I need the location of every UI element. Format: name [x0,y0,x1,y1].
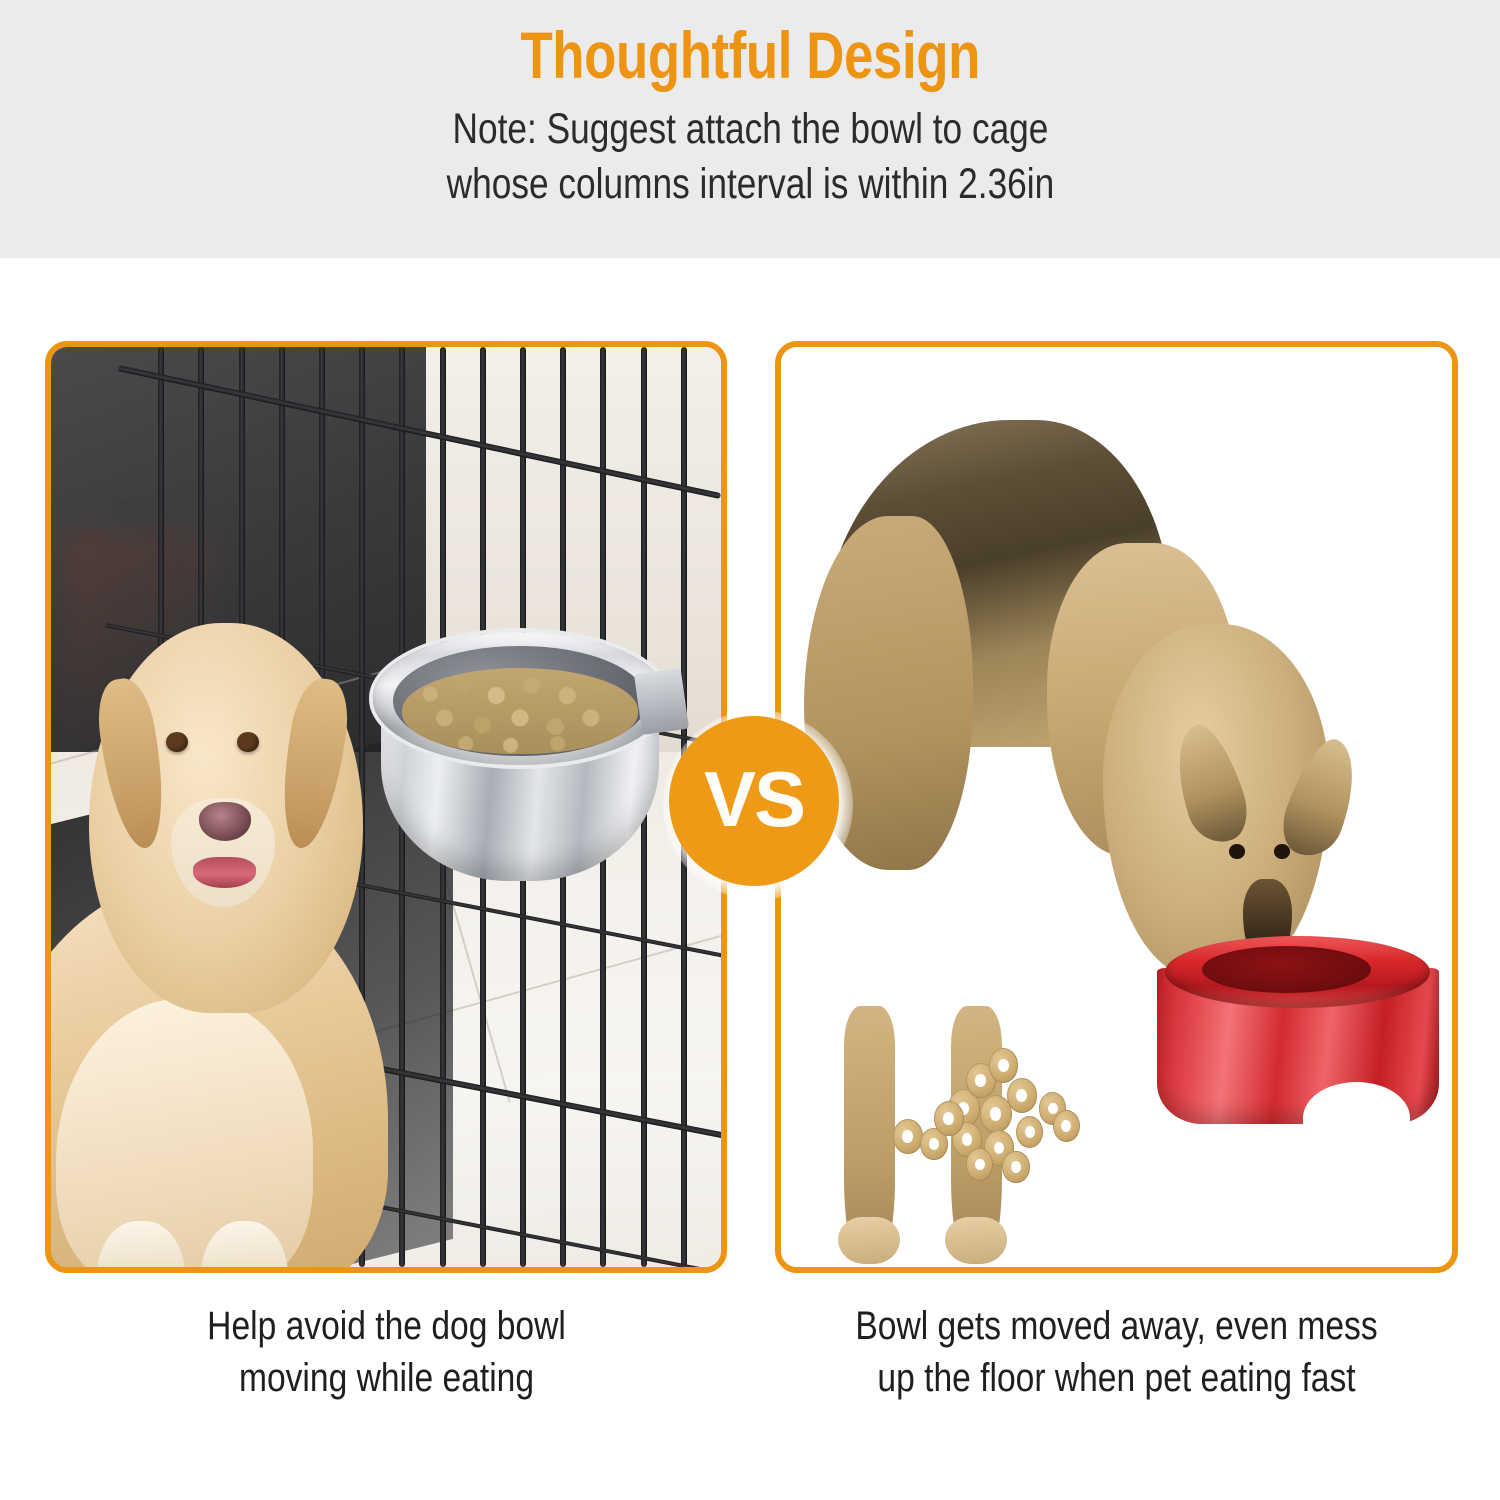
caption-left: Help avoid the dog bowl moving while eat… [45,1300,728,1404]
kibble-ring [1007,1078,1037,1113]
comparison-panel-right [775,341,1458,1273]
cage-wire-diagonal [117,365,721,499]
dog-paw [838,1217,900,1265]
caption-right-line-2: up the floor when pet eating fast [830,1352,1404,1404]
red-plastic-bowl [1157,936,1439,1148]
bowl-clamp [634,668,689,735]
dog-leg [844,1006,895,1251]
caption-right: Bowl gets moved away, even mess up the f… [775,1300,1458,1404]
kibble-ring [1002,1151,1029,1183]
comparison-panel-left [45,341,727,1273]
header-note-line-1: Note: Suggest attach the bowl to cage [446,102,1054,157]
dog-ear [1274,731,1370,864]
header-note: Note: Suggest attach the bowl to cage wh… [446,102,1054,212]
vs-badge: VS [669,716,839,886]
dog-eye [1274,844,1290,859]
header-band: Thoughtful Design Note: Suggest attach t… [0,0,1500,258]
kibble-ring [1016,1116,1043,1148]
kibble-ring [989,1048,1019,1083]
dog-ear [92,674,173,852]
dog-mouth [193,857,256,888]
dog-eye [237,732,259,752]
dog-head [1103,624,1328,978]
spilled-kibble-pile [888,1019,1116,1166]
kibble-ring [980,1095,1012,1133]
right-scene-image [781,347,1452,1267]
kibble-ring [966,1148,993,1180]
kibble-ring [934,1101,964,1136]
kibble-ring [1053,1110,1080,1142]
kibble-ring [893,1119,923,1154]
vs-badge-label: VS [704,760,804,838]
bowl-cavity [1202,946,1371,993]
left-scene-image [51,347,721,1267]
bowl-base [1157,1130,1439,1151]
header-note-line-2: whose columns interval is within 2.36in [446,157,1054,212]
dog-paw [945,1217,1007,1265]
caption-left-line-2: moving while eating [100,1352,674,1404]
dog-eye [166,732,188,752]
dog-eye [1229,844,1245,859]
page-title: Thoughtful Design [520,18,980,94]
caption-left-line-1: Help avoid the dog bowl [100,1300,674,1352]
dog-ear [273,674,354,852]
dog-ear [1163,717,1256,850]
caption-right-line-1: Bowl gets moved away, even mess [830,1300,1404,1352]
dog-head [89,623,363,1013]
golden-retriever-dog [51,623,446,1267]
